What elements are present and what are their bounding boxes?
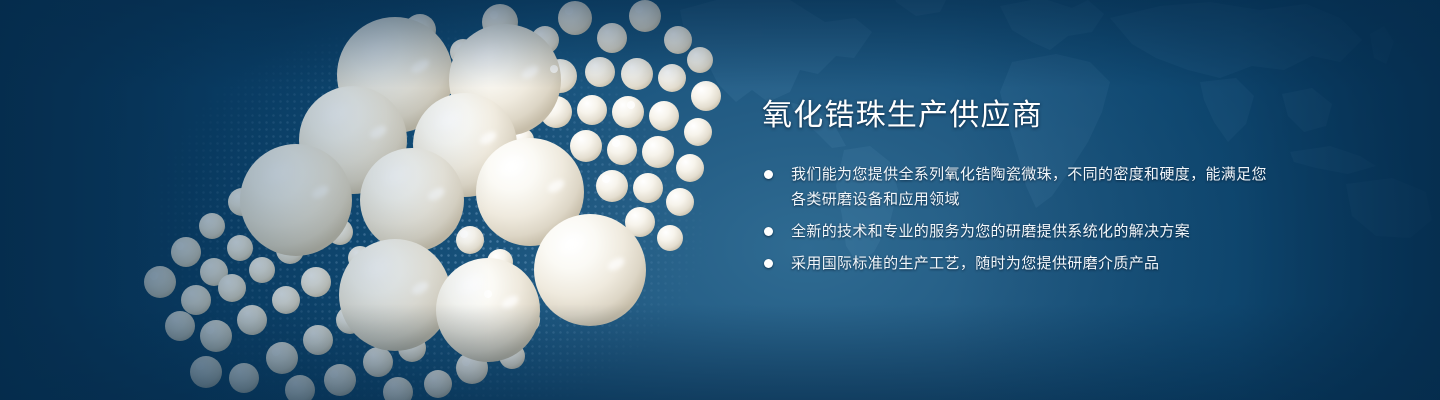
banner-headline: 氧化锆珠生产供应商 xyxy=(762,100,1280,132)
bullet-dot-icon xyxy=(764,170,773,179)
feature-text: 采用国际标准的生产工艺，随时为您提供研磨介质产品 xyxy=(791,255,1159,272)
bullet-dot-icon xyxy=(764,227,773,236)
feature-list-item: 全新的技术和专业的服务为您的研磨提供系统化的解决方案 xyxy=(760,219,1280,244)
feature-list-item: 采用国际标准的生产工艺，随时为您提供研磨介质产品 xyxy=(760,251,1280,276)
banner-copy: 氧化锆珠生产供应商 我们能为您提供全系列氧化锆陶瓷微珠，不同的密度和硬度，能满足… xyxy=(760,100,1280,276)
feature-text: 我们能为您提供全系列氧化锆陶瓷微珠，不同的密度和硬度，能满足您各类研磨设备和应用… xyxy=(791,166,1267,208)
feature-text: 全新的技术和专业的服务为您的研磨提供系统化的解决方案 xyxy=(791,223,1190,240)
bullet-dot-icon xyxy=(764,259,773,268)
hero-banner: 氧化锆珠生产供应商 我们能为您提供全系列氧化锆陶瓷微珠，不同的密度和硬度，能满足… xyxy=(0,0,1440,400)
feature-list-item: 我们能为您提供全系列氧化锆陶瓷微珠，不同的密度和硬度，能满足您各类研磨设备和应用… xyxy=(760,162,1280,212)
banner-feature-list: 我们能为您提供全系列氧化锆陶瓷微珠，不同的密度和硬度，能满足您各类研磨设备和应用… xyxy=(760,162,1280,276)
